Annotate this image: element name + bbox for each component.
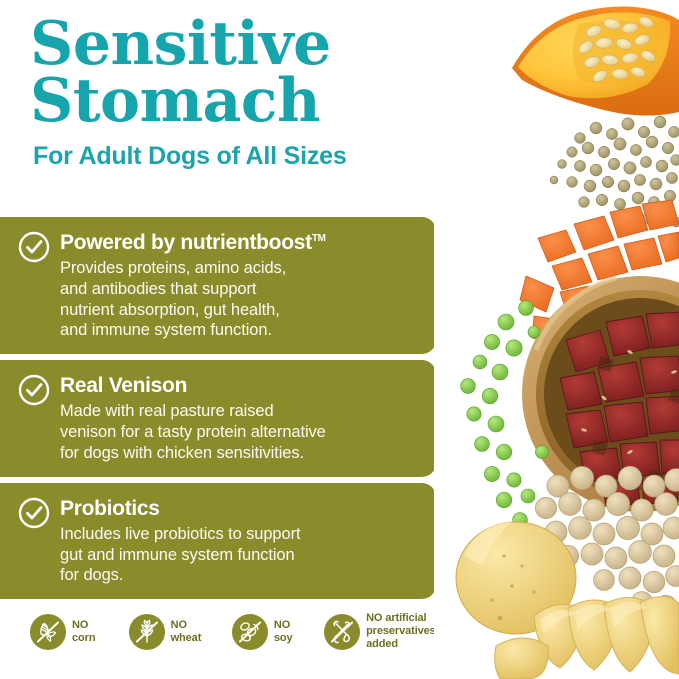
no-corn-icon: [30, 614, 66, 650]
food-ingredients-photo: [434, 0, 679, 679]
check-circle-icon: [18, 231, 50, 263]
check-circle-icon: [18, 374, 50, 406]
check-circle-icon: [18, 497, 50, 529]
product-feature-panel: Sensitive Stomach For Adult Dogs of All …: [0, 0, 679, 679]
page-title: Sensitive Stomach: [30, 16, 450, 130]
headline-line-2: Stomach: [30, 73, 450, 130]
benefits-list: Powered by nutrientboostTM Provides prot…: [0, 217, 436, 605]
benefit-title-text: Real Venison: [60, 374, 187, 397]
benefit-description: Made with real pasture raised venison fo…: [60, 401, 422, 463]
benefit-title: Powered by nutrientboostTM: [60, 231, 422, 255]
benefit-description: Provides proteins, amino acids, and anti…: [60, 258, 422, 341]
benefit-title-text: Probiotics: [60, 497, 160, 520]
claim-label: NO soy: [274, 619, 306, 645]
claim-label: NO artificial preservatives added: [366, 612, 460, 652]
benefit-title-text: Powered by nutrientboost: [60, 231, 312, 254]
page-subtitle: For Adult Dogs of All Sizes: [33, 142, 450, 171]
no-wheat-icon: [129, 614, 165, 650]
benefit-card-body: Real Venison Made with real pasture rais…: [60, 372, 422, 463]
trademark-symbol: TM: [312, 233, 326, 244]
claim-no-wheat: NO wheat: [129, 614, 214, 650]
benefit-title: Real Venison: [60, 374, 422, 398]
free-from-claims-row: NO corn NO wheat: [30, 612, 460, 652]
benefit-card-real-venison: Real Venison Made with real pasture rais…: [0, 360, 436, 476]
claim-label: NO corn: [72, 619, 109, 645]
benefit-card-nutrientboost: Powered by nutrientboostTM Provides prot…: [0, 217, 436, 354]
benefit-title: Probiotics: [60, 497, 422, 521]
claim-no-artificial-preservatives: NO artificial preservatives added: [324, 612, 460, 652]
benefit-card-body: Powered by nutrientboostTM Provides prot…: [60, 229, 422, 341]
benefit-card-body: Probiotics Includes live probiotics to s…: [60, 495, 422, 586]
claim-no-soy: NO soy: [232, 614, 306, 650]
benefit-card-probiotics: Probiotics Includes live probiotics to s…: [0, 483, 436, 599]
headline-block: Sensitive Stomach For Adult Dogs of All …: [30, 16, 450, 171]
claim-no-corn: NO corn: [30, 614, 109, 650]
no-soy-icon: [232, 614, 268, 650]
benefit-description: Includes live probiotics to support gut …: [60, 524, 422, 586]
no-preservatives-icon: [324, 614, 360, 650]
claim-label: NO wheat: [171, 619, 214, 645]
